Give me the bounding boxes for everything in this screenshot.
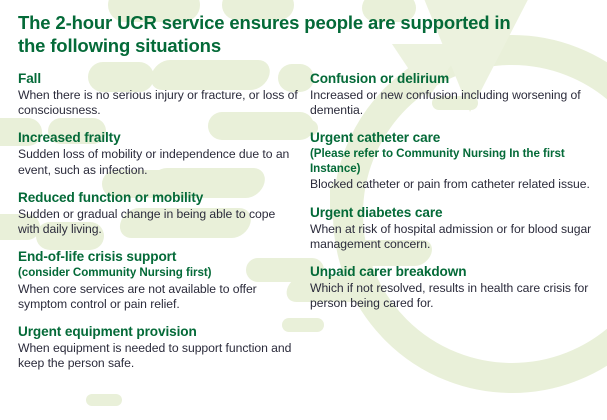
situation-body: Increased or new confusion including wor… xyxy=(310,88,607,118)
situation-body: Blocked catheter or pain from catheter r… xyxy=(310,177,607,192)
situation-item-urgent-catheter-care: Urgent catheter care (Please refer to Co… xyxy=(310,129,607,192)
situations-columns: Fall When there is no serious injury or … xyxy=(18,70,591,372)
situation-item-reduced-function-or-mobility: Reduced function or mobility Sudden or g… xyxy=(18,189,300,237)
page-title: The 2-hour UCR service ensures people ar… xyxy=(18,11,538,57)
situation-item-end-of-life-crisis-support: End-of-life crisis support (consider Com… xyxy=(18,248,300,312)
situation-item-increased-frailty: Increased frailty Sudden loss of mobilit… xyxy=(18,129,300,177)
situation-body: When there is no serious injury or fract… xyxy=(18,88,300,118)
situation-item-confusion-or-delirium: Confusion or delirium Increased or new c… xyxy=(310,70,607,118)
situation-title: Fall xyxy=(18,70,300,87)
situation-item-unpaid-carer-breakdown: Unpaid carer breakdown Which if not reso… xyxy=(310,263,607,311)
situation-title: Urgent diabetes care xyxy=(310,204,607,221)
situation-body: Sudden loss of mobility or independence … xyxy=(18,147,300,177)
situation-title: Confusion or delirium xyxy=(310,70,607,87)
situation-item-urgent-diabetes-care: Urgent diabetes care When at risk of hos… xyxy=(310,204,607,252)
situation-body: When core services are not available to … xyxy=(18,282,300,312)
situation-item-fall: Fall When there is no serious injury or … xyxy=(18,70,300,118)
situation-body: Sudden or gradual change in being able t… xyxy=(18,207,300,237)
situation-title: Urgent catheter care xyxy=(310,129,607,146)
situation-body: Which if not resolved, results in health… xyxy=(310,281,607,311)
situation-title: Unpaid carer breakdown xyxy=(310,263,607,280)
situation-title: Increased frailty xyxy=(18,129,300,146)
situation-title: Urgent equipment provision xyxy=(18,323,300,340)
situation-title: End-of-life crisis support xyxy=(18,248,300,265)
situation-item-urgent-equipment-provision: Urgent equipment provision When equipmen… xyxy=(18,323,300,371)
situation-subtitle: (Please refer to Community Nursing In th… xyxy=(310,147,607,176)
right-column: Confusion or delirium Increased or new c… xyxy=(310,70,607,311)
situation-title: Reduced function or mobility xyxy=(18,189,300,206)
poster-container: The 2-hour UCR service ensures people ar… xyxy=(0,0,607,420)
situation-body: When equipment is needed to support func… xyxy=(18,341,300,371)
left-column: Fall When there is no serious injury or … xyxy=(18,70,310,372)
situation-body: When at risk of hospital admission or fo… xyxy=(310,222,607,252)
situation-subtitle: (consider Community Nursing first) xyxy=(18,266,300,281)
poster-content: The 2-hour UCR service ensures people ar… xyxy=(0,0,607,420)
